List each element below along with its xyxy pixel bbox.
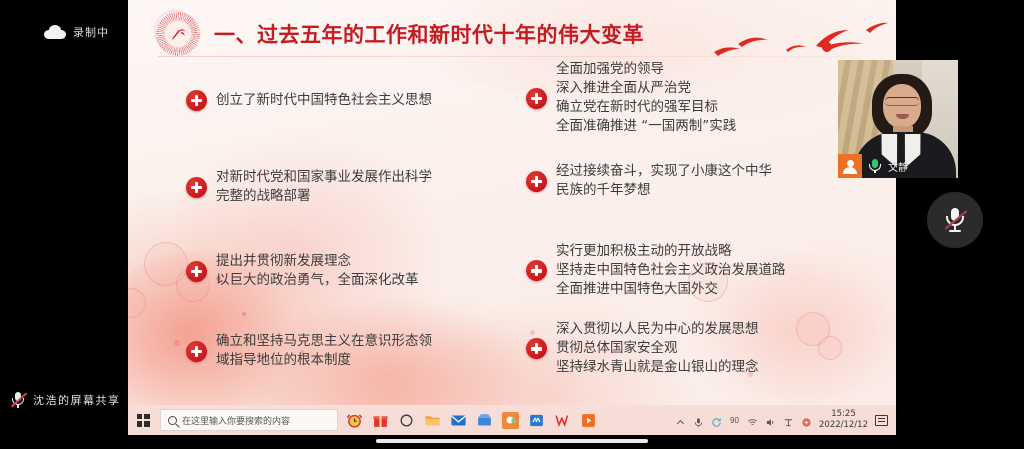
plus-badge-icon [186,177,207,198]
ime-status-icon[interactable] [783,415,794,426]
page-title: 一、过去五年的工作和新时代十年的伟大变革 [214,19,644,49]
list-item: 对新时代党和国家事业发展作出科学 完整的战略部署 [186,168,432,206]
bullet-text: 创立了新时代中国特色社会主义思想 [216,91,432,110]
volume-icon[interactable] [765,415,776,426]
decorative-ring [128,288,146,318]
bullet-text: 确立和坚持马克思主义在意识形态领 域指导地位的根本制度 [216,332,432,370]
bullet-text: 对新时代党和国家事业发展作出科学 完整的战略部署 [216,168,432,206]
participant-name: 文静 [888,159,908,174]
person-icon [838,154,862,178]
participant-video-tile[interactable]: 文静 [838,60,958,178]
cloud-icon [44,25,66,39]
plus-badge-icon [526,171,547,192]
meeting-app-icon[interactable] [502,412,519,429]
bullet-text: 经过接续奋斗，实现了小康这个中华 民族的千年梦想 [556,162,772,200]
clock-date: 2022/12/12 [819,420,868,430]
bullet-text: 全面加强党的领导 深入推进全面从严治党 确立党在新时代的强军目标 全面准确推进 … [556,60,736,137]
paper-speck [242,312,246,316]
decorative-ring [144,242,188,286]
search-placeholder: 在这里输入你要搜索的内容 [182,414,290,427]
list-item: 实行更加积极主动的开放战略 坚持走中国特色社会主义政治发展道路 全面推进中国特色… [526,242,786,299]
list-item: 提出并贯彻新发展理念 以巨大的政治勇气，全面深化改革 [186,252,419,290]
list-item: 经过接续奋斗，实现了小康这个中华 民族的千年梦想 [526,162,772,200]
media-player-icon[interactable] [580,412,597,429]
alarm-clock-icon[interactable] [346,412,363,429]
taskbar-pinned-apps [346,412,597,429]
file-explorer-icon[interactable] [424,412,441,429]
bullet-text: 深入贯彻以人民为中心的发展思想 贯彻总体国家安全观 坚持绿水青山就是金山银山的理… [556,320,759,377]
list-item: 深入贯彻以人民为中心的发展思想 贯彻总体国家安全观 坚持绿水青山就是金山银山的理… [526,320,759,377]
microphone-icon[interactable] [693,415,704,426]
shared-slide: 一、过去五年的工作和新时代十年的伟大变革 创立了新时代中国特 [128,0,896,405]
refresh-icon[interactable] [711,415,722,426]
party-emblem-icon [156,12,200,56]
list-item: 全面加强党的领导 深入推进全面从严治党 确立党在新时代的强军目标 全面准确推进 … [526,60,736,137]
participant-face [883,84,921,128]
glasses-icon [885,97,919,106]
network-icon[interactable] [747,415,758,426]
taskbar-clock[interactable]: 15:25 2022/12/12 [819,409,868,430]
list-item: 创立了新时代中国特色社会主义思想 [186,90,432,111]
paper-speck [174,340,180,346]
recording-indicator: 录制中 [44,24,109,40]
clock-time: 15:25 [831,409,856,419]
chevron-up-icon[interactable] [675,415,686,426]
decorative-ring [818,336,842,360]
system-tray: 90 [675,409,896,430]
share-owner-label: 沈浩的屏幕共享 [33,392,121,408]
mic-toggle-button[interactable] [927,192,983,248]
screen-share-viewer: 录制中 沈浩的屏幕共享 [0,0,1024,449]
input-method-icon[interactable]: 90 [729,415,740,426]
start-button[interactable] [128,414,158,427]
plus-badge-icon [526,338,547,359]
search-icon [168,416,177,425]
mic-active-icon [868,158,882,174]
cortana-icon[interactable] [398,412,415,429]
bullet-text: 实行更加积极主动的开放战略 坚持走中国特色社会主义政治发展道路 全面推进中国特色… [556,242,786,299]
store-icon[interactable] [476,412,493,429]
home-indicator [376,439,648,443]
security-icon[interactable] [801,415,812,426]
wps-icon[interactable] [554,412,571,429]
plus-badge-icon [526,260,547,281]
mic-muted-icon [10,391,26,409]
browser-icon[interactable] [528,412,545,429]
list-item: 确立和坚持马克思主义在意识形态领 域指导地位的根本制度 [186,332,432,370]
slide-title-row: 一、过去五年的工作和新时代十年的伟大变革 [156,12,644,56]
plus-badge-icon [186,261,207,282]
video-overlay-bar: 文静 [838,154,958,178]
gift-icon[interactable] [372,412,389,429]
mic-muted-icon [944,207,966,233]
notification-icon[interactable] [875,415,888,426]
plus-badge-icon [186,90,207,111]
bullet-text: 提出并贯彻新发展理念 以巨大的政治勇气，全面深化改革 [216,252,419,290]
search-input[interactable]: 在这里输入你要搜索的内容 [160,409,338,431]
decorative-ring [796,312,830,346]
plus-badge-icon [526,88,547,109]
plus-badge-icon [186,341,207,362]
recording-label: 录制中 [73,24,109,40]
windows-taskbar: 在这里输入你要搜索的内容 [128,405,896,435]
mail-icon[interactable] [450,412,467,429]
screen-share-label: 沈浩的屏幕共享 [10,391,121,409]
left-letterbox [0,0,128,435]
windows-logo-icon [137,414,150,427]
